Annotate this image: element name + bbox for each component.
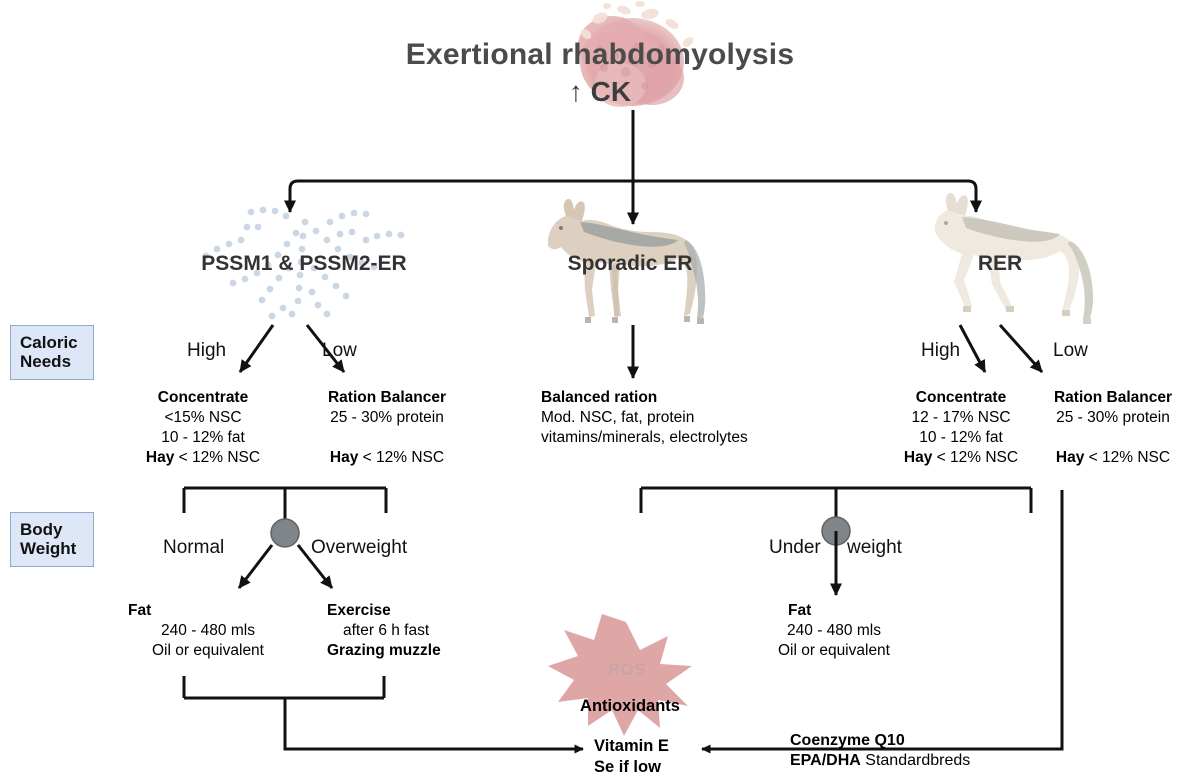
treatment-pssm-concentrate: Concentrate <15% NSC 10 - 12% fat Hay < … — [113, 388, 293, 469]
pssm-balancer-line1: 25 - 30% protein — [292, 408, 482, 428]
antioxidants-label: Antioxidants — [540, 697, 720, 716]
flowchart-canvas: Exertional rhabdomyolysis ↑ CK PSSM1 & P… — [0, 0, 1200, 777]
rer-concentrate-hay-value: < 12% NSC — [932, 449, 1018, 466]
edge-label-pssm-low: Low — [322, 340, 357, 362]
rer-fat-line1: 240 - 480 mls — [744, 621, 924, 641]
rer-fat-title: Fat — [788, 602, 811, 619]
sporadic-ration-title: Balanced ration — [541, 389, 657, 406]
pssm-concentrate-hay-label: Hay — [146, 449, 174, 466]
standardbreds-label: Standardbreds — [861, 752, 970, 769]
rer-fat-line2: Oil or equivalent — [744, 641, 924, 661]
pssm-balancer-hay-value: < 12% NSC — [358, 449, 444, 466]
rer-concentrate-title: Concentrate — [916, 389, 1006, 406]
pssm-concentrate-hay-value: < 12% NSC — [174, 449, 260, 466]
arrow-rer-high — [960, 325, 985, 372]
treatment-pssm-fat: Fat 240 - 480 mls Oil or equivalent — [118, 601, 298, 661]
edge-label-rer-under: Under — [769, 537, 821, 559]
page-title: Exertional rhabdomyolysis — [0, 38, 1200, 72]
section-label-caloric-needs: Caloric Needs — [10, 325, 94, 380]
section-label-body-weight: Body Weight — [10, 512, 94, 567]
coenzyme-q10-label: Coenzyme Q10 — [790, 731, 970, 751]
arrow-pssm-normal — [239, 545, 272, 588]
arrow-rer-low — [1000, 325, 1042, 372]
sporadic-ration-line2: vitamins/minerals, electrolytes — [541, 428, 748, 448]
supplement-annotations: Coenzyme Q10 EPA/DHA Standardbreds — [790, 731, 970, 772]
pssm-concentrate-line1: <15% NSC — [113, 408, 293, 428]
treatment-pssm-exercise: Exercise after 6 h fast Grazing muzzle — [327, 601, 441, 661]
epa-dha-label: EPA/DHA — [790, 752, 861, 769]
treatment-sporadic-balanced-ration: Balanced ration Mod. NSC, fat, protein v… — [541, 388, 748, 448]
ck-subtitle: ↑ CK — [0, 76, 1200, 108]
pssm-bottom-bracket — [184, 676, 384, 698]
sporadic-ration-line1: Mod. NSC, fat, protein — [541, 408, 748, 428]
edge-label-rer-high: High — [921, 340, 960, 362]
pssm-weight-node — [271, 519, 299, 547]
rer-balancer-title: Ration Balancer — [1054, 389, 1172, 406]
vitamin-e-line1: Vitamin E — [594, 736, 669, 757]
pssm-fat-line1: 240 - 480 mls — [118, 621, 298, 641]
edge-label-pssm-high: High — [187, 340, 226, 362]
treatment-pssm-ration-balancer: Ration Balancer 25 - 30% protein Hay < 1… — [292, 388, 482, 469]
weight-label-line2: Weight — [20, 539, 76, 558]
pssm-concentrate-line2: 10 - 12% fat — [113, 428, 293, 448]
weight-label-line1: Body — [20, 520, 63, 539]
vitamin-e-line2: Se if low — [594, 757, 669, 777]
pssm-concentrate-title: Concentrate — [158, 389, 248, 406]
edge-label-pssm-normal: Normal — [163, 537, 224, 559]
pssm-fat-line2: Oil or equivalent — [118, 641, 298, 661]
edge-label-rer-weight: weight — [847, 537, 902, 559]
branch-heading-rer: RER — [940, 252, 1060, 276]
pssm-fat-title: Fat — [128, 602, 151, 619]
line-pssm-to-vitamine — [285, 698, 583, 749]
treatment-rer-fat: Fat 240 - 480 mls Oil or equivalent — [744, 601, 924, 661]
edge-label-rer-low: Low — [1053, 340, 1088, 362]
caloric-label-line2: Needs — [20, 352, 71, 371]
arrow-pssm-high — [240, 325, 273, 372]
pssm-balancer-title: Ration Balancer — [328, 389, 446, 406]
rer-concentrate-hay-label: Hay — [904, 449, 932, 466]
pssm-balancer-hay-label: Hay — [330, 449, 358, 466]
branch-heading-sporadic: Sporadic ER — [530, 252, 730, 276]
treatment-rer-ration-balancer: Ration Balancer 25 - 30% protein Hay < 1… — [1023, 388, 1200, 469]
caloric-label-line1: Caloric — [20, 333, 78, 352]
rer-balancer-hay-label: Hay — [1056, 449, 1084, 466]
pssm-exercise-title: Exercise — [327, 602, 391, 619]
edge-label-pssm-overweight: Overweight — [311, 537, 407, 559]
vitamin-e-outcome: Vitamin E Se if low — [594, 736, 669, 777]
rer-balancer-line1: 25 - 30% protein — [1023, 408, 1200, 428]
rer-balancer-hay-value: < 12% NSC — [1084, 449, 1170, 466]
pssm-exercise-grazing-muzzle: Grazing muzzle — [327, 642, 441, 659]
pssm-exercise-line1: after 6 h fast — [327, 621, 441, 641]
branch-heading-pssm: PSSM1 & PSSM2-ER — [184, 252, 424, 276]
